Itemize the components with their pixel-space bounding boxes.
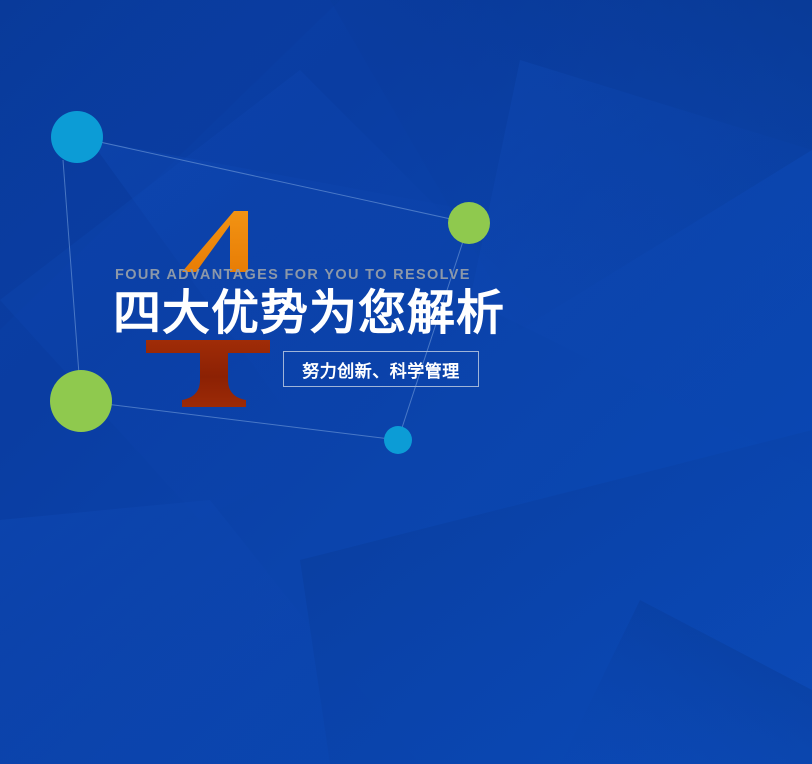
tagline-text: 努力创新、科学管理 bbox=[302, 357, 460, 382]
node-cyan-top-left bbox=[51, 111, 103, 163]
headline-block: FOUR ADVANTAGES FOR YOU TO RESOLVE 四大优势为… bbox=[113, 268, 733, 337]
node-cyan-bottom-right bbox=[384, 426, 412, 454]
tagline-box[interactable]: 努力创新、科学管理 bbox=[283, 351, 479, 387]
node-green-top-right bbox=[448, 202, 490, 244]
network-line-cyan-to-green-top bbox=[77, 137, 469, 223]
node-green-bottom-left bbox=[50, 370, 112, 432]
network-line-green-to-cyan-bottom bbox=[81, 401, 398, 440]
eyebrow-text: FOUR ADVANTAGES FOR YOU TO RESOLVE bbox=[115, 268, 733, 283]
network-line-cyan-to-green-bottom bbox=[63, 160, 81, 401]
page-title: 四大优势为您解析 bbox=[113, 289, 733, 338]
banner-canvas: FOUR ADVANTAGES FOR YOU TO RESOLVE 四大优势为… bbox=[0, 0, 812, 764]
